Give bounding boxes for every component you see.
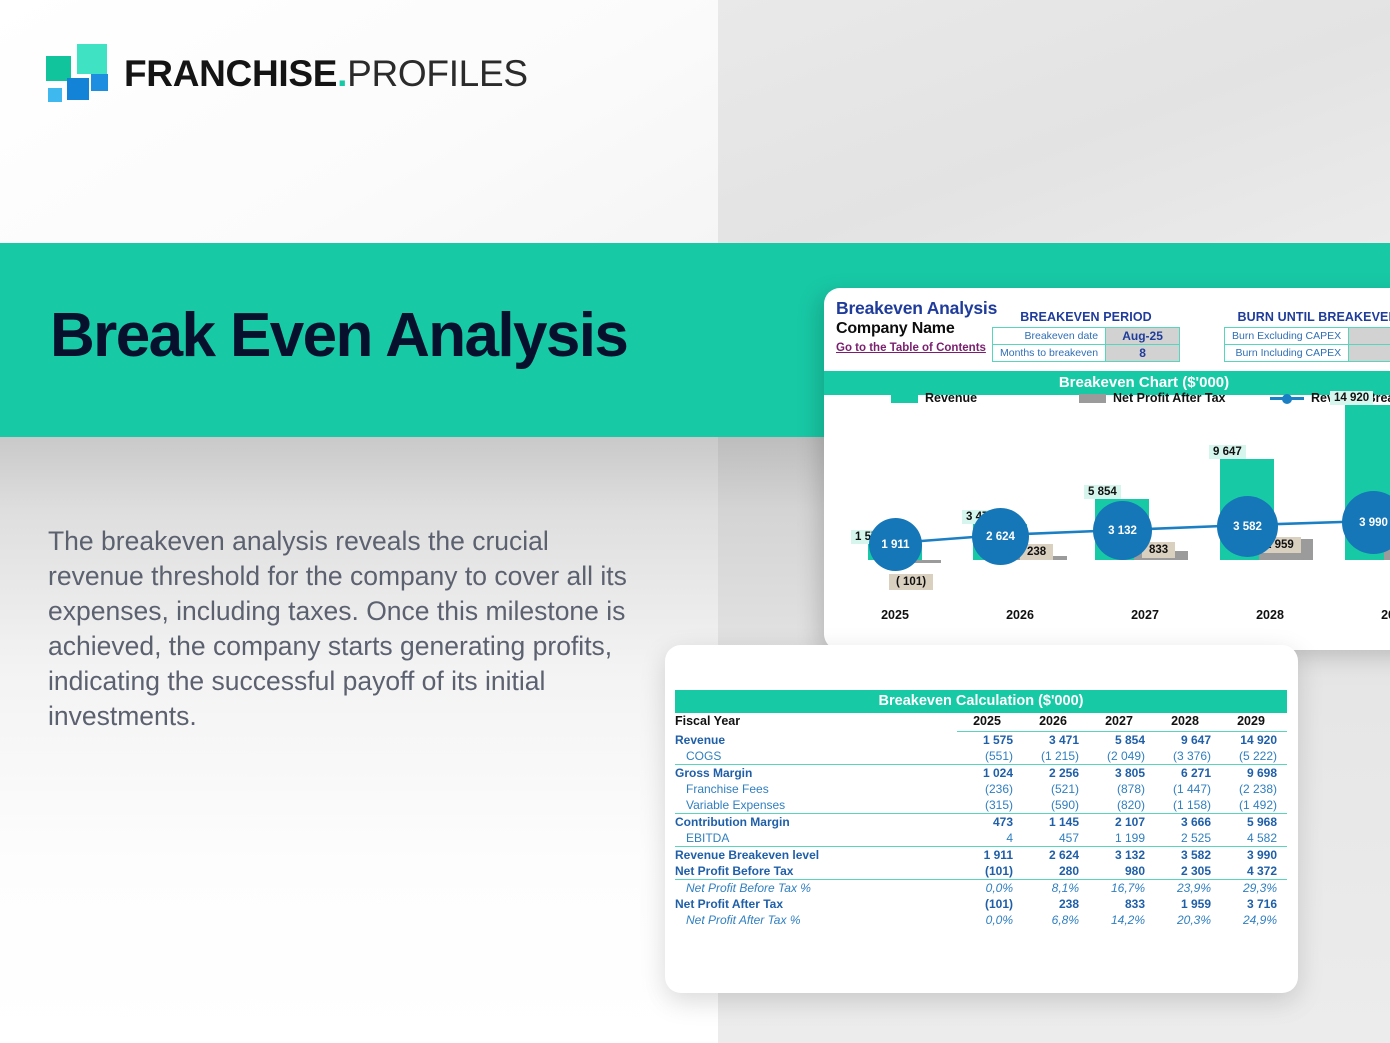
breakeven-calculation-table: Fiscal Year20252026202720282029Revenue1 … [675,713,1287,928]
breakeven-chart-card: Breakeven Analysis Company Name Go to th… [824,288,1390,650]
brand-name-light: PROFILES [347,53,528,94]
table-row: COGS(551)(1 215)(2 049)(3 376)(5 222) [675,748,1287,765]
row-label: Net Profit Before Tax % [675,880,957,897]
data-label-revenue-2027: 5 854 [1084,485,1121,499]
burn-excluding-capex-label: Burn Excluding CAPEX [1225,328,1349,345]
legend-item-revenue[interactable]: Revenue [891,391,977,405]
table-row: Contribution Margin4731 1452 1073 6665 9… [675,814,1287,831]
cell-2025: 0,0% [957,912,1023,928]
table-row: Revenue1 5753 4715 8549 64714 920 [675,732,1287,749]
table-row: Burn Excluding CAPEX [1225,328,1390,345]
column-header-2027: 2027 [1089,713,1155,732]
x-axis-label-2026: 2026 [975,608,1065,622]
cell-2028: 9 647 [1155,732,1221,749]
cell-2029: 4 582 [1221,830,1287,847]
table-row: EBITDA44571 1992 5254 582 [675,830,1287,847]
cell-2026: (590) [1023,797,1089,814]
table-row: Breakeven date Aug-25 [993,328,1180,345]
x-axis-label-2027: 2027 [1100,608,1190,622]
column-header-2029: 2029 [1221,713,1287,732]
column-header-2025: 2025 [957,713,1023,732]
cell-2029: (1 492) [1221,797,1287,814]
data-label-revenue-2029: 14 920 [1330,391,1373,405]
breakeven-calculation-card: Breakeven Calculation ($'000) Fiscal Yea… [665,645,1298,993]
row-label: Net Profit After Tax % [675,912,957,928]
background-panel-top-left [0,0,718,243]
table-row: Net Profit Before Tax %0,0%8,1%16,7%23,9… [675,880,1287,897]
cell-2028: 2 305 [1155,863,1221,880]
cell-2027: 1 199 [1089,830,1155,847]
cell-2027: 5 854 [1089,732,1155,749]
cell-2026: (1 215) [1023,748,1089,765]
cell-2026: 1 145 [1023,814,1089,831]
table-row: Burn Including CAPEX [1225,345,1390,362]
cell-2026: 2 624 [1023,847,1089,864]
cell-2027: (878) [1089,781,1155,797]
cell-2027: 2 107 [1089,814,1155,831]
franchise-profiles-mark-icon [46,44,108,102]
line-marker-blue-icon [1270,394,1304,403]
cell-2027: 16,7% [1089,880,1155,897]
cell-2028: 1 959 [1155,896,1221,912]
cell-2026: 457 [1023,830,1089,847]
table-row: Variable Expenses(315)(590)(820)(1 158)(… [675,797,1287,814]
cell-2027: 833 [1089,896,1155,912]
burn-until-breakeven-block: BURN UNTIL BREAKEVEN Burn Excluding CAPE… [1224,310,1390,362]
cell-2029: 14 920 [1221,732,1287,749]
cell-2028: (1 447) [1155,781,1221,797]
table-row: Net Profit After Tax(101)2388331 9593 71… [675,896,1287,912]
cell-2027: 3 805 [1089,765,1155,782]
burn-including-capex-value [1349,345,1390,362]
column-header-2026: 2026 [1023,713,1089,732]
table-header-row: Fiscal Year20252026202720282029 [675,713,1287,732]
breakeven-period-block: BREAKEVEN PERIOD Breakeven date Aug-25 M… [992,310,1180,362]
cell-2027: (820) [1089,797,1155,814]
legend-label-revenue: Revenue [925,391,977,405]
cell-2026: 8,1% [1023,880,1089,897]
cell-2029: 4 372 [1221,863,1287,880]
data-label-npat-2025: ( 101) [889,574,933,590]
slide-canvas: FRANCHISE.PROFILES Break Even Analysis T… [0,0,1390,1043]
cell-2028: (1 158) [1155,797,1221,814]
cell-2025: 1 575 [957,732,1023,749]
row-label: COGS [675,748,957,765]
burn-excluding-capex-value [1349,328,1390,345]
cell-2028: 3 666 [1155,814,1221,831]
breakeven-period-heading: BREAKEVEN PERIOD [992,310,1180,324]
x-axis-label-2029: 2029 [1350,608,1390,622]
cell-2025: 1 911 [957,847,1023,864]
cell-2026: 3 471 [1023,732,1089,749]
table-row: Months to breakeven 8 [993,345,1180,362]
row-label: Net Profit After Tax [675,896,957,912]
bubble-breakeven-2026: 2 624 [972,508,1029,565]
background-panel-top-right [718,0,1390,243]
brand-name-dot: . [337,53,347,94]
cell-2029: (2 238) [1221,781,1287,797]
cell-2029: 3 716 [1221,896,1287,912]
cell-2027: 980 [1089,863,1155,880]
cell-2026: 238 [1023,896,1089,912]
cell-2029: 9 698 [1221,765,1287,782]
table-row: Revenue Breakeven level1 9112 6243 1323 … [675,847,1287,864]
table-of-contents-link[interactable]: Go to the Table of Contents [836,342,986,354]
bubble-breakeven-2025: 1 911 [869,518,922,571]
cell-2028: 20,3% [1155,912,1221,928]
cell-2025: 4 [957,830,1023,847]
table-row: Franchise Fees(236)(521)(878)(1 447)(2 2… [675,781,1287,797]
page-description: The breakeven analysis reveals the cruci… [48,524,628,734]
calculation-banner-title: Breakeven Calculation ($'000) [675,690,1287,713]
brand-wordmark: FRANCHISE.PROFILES [124,55,528,92]
table-row: Gross Margin1 0242 2563 8056 2719 698 [675,765,1287,782]
months-to-breakeven-label: Months to breakeven [993,345,1106,362]
table-row: Net Profit Before Tax(101)2809802 3054 3… [675,863,1287,880]
breakeven-date-label: Breakeven date [993,328,1106,345]
cell-2026: 6,8% [1023,912,1089,928]
data-label-revenue-2028: 9 647 [1209,445,1246,459]
cell-2029: 3 990 [1221,847,1287,864]
chart-plot-area: 1 575 3 471 5 854 9 647 14 920 ( 101) 23… [824,420,1390,650]
cell-2029: 5 968 [1221,814,1287,831]
cell-2027: 3 132 [1089,847,1155,864]
table-row: Net Profit After Tax %0,0%6,8%14,2%20,3%… [675,912,1287,928]
x-axis-label-2025: 2025 [850,608,940,622]
row-label: Franchise Fees [675,781,957,797]
row-label: Contribution Margin [675,814,957,831]
bubble-breakeven-2027: 3 132 [1093,501,1152,560]
legend-item-net-profit-after-tax[interactable]: Net Profit After Tax [1079,391,1226,405]
cell-2025: (101) [957,863,1023,880]
burn-until-breakeven-table: Burn Excluding CAPEX Burn Including CAPE… [1224,327,1390,362]
cell-2028: 23,9% [1155,880,1221,897]
cell-2028: 2 525 [1155,830,1221,847]
months-to-breakeven-value: 8 [1106,345,1180,362]
row-label: Net Profit Before Tax [675,863,957,880]
cell-2027: (2 049) [1089,748,1155,765]
cell-2025: (315) [957,797,1023,814]
cell-2028: 6 271 [1155,765,1221,782]
brand-logo[interactable]: FRANCHISE.PROFILES [46,44,528,102]
swatch-teal-icon [891,394,918,403]
cell-2025: (101) [957,896,1023,912]
row-label: EBITDA [675,830,957,847]
swatch-grey-icon [1079,394,1106,403]
burn-until-breakeven-heading: BURN UNTIL BREAKEVEN [1224,310,1390,324]
row-label: Revenue Breakeven level [675,847,957,864]
cell-2028: 3 582 [1155,847,1221,864]
x-axis-label-2028: 2028 [1225,608,1315,622]
cell-2026: (521) [1023,781,1089,797]
page-title: Break Even Analysis [50,303,627,368]
column-header-2028: 2028 [1155,713,1221,732]
row-label: Variable Expenses [675,797,957,814]
cell-2029: (5 222) [1221,748,1287,765]
cell-2025: (236) [957,781,1023,797]
cell-2025: 0,0% [957,880,1023,897]
burn-including-capex-label: Burn Including CAPEX [1225,345,1349,362]
column-header-fiscal-year: Fiscal Year [675,713,957,732]
legend-label-net-profit-after-tax: Net Profit After Tax [1113,391,1226,405]
breakeven-period-table: Breakeven date Aug-25 Months to breakeve… [992,327,1180,362]
row-label: Revenue [675,732,957,749]
bubble-breakeven-2028: 3 582 [1217,496,1278,557]
brand-name-bold: FRANCHISE [124,53,337,94]
cell-2029: 29,3% [1221,880,1287,897]
cell-2027: 14,2% [1089,912,1155,928]
cell-2026: 280 [1023,863,1089,880]
breakeven-date-value: Aug-25 [1106,328,1180,345]
cell-2025: 473 [957,814,1023,831]
cell-2029: 24,9% [1221,912,1287,928]
row-label: Gross Margin [675,765,957,782]
cell-2026: 2 256 [1023,765,1089,782]
cell-2028: (3 376) [1155,748,1221,765]
cell-2025: (551) [957,748,1023,765]
cell-2025: 1 024 [957,765,1023,782]
